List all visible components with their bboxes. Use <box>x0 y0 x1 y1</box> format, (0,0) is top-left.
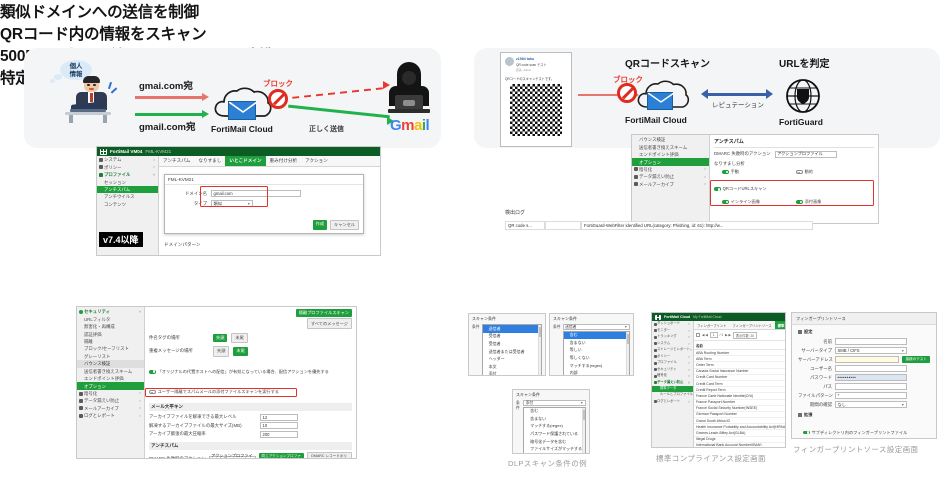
sidebar-label: データ漏えい防止 <box>84 398 119 403</box>
sidebar-item-greylist[interactable]: グレーリスト <box>77 353 144 360</box>
compliance-list[interactable]: ABA Routing Number ABA Term Order Term C… <box>694 350 786 446</box>
sidebar-item-options[interactable]: オプション <box>632 158 709 165</box>
compliance-caption: 標準コンプライアンス設定画面 <box>656 453 766 464</box>
block-1-label: ブロック <box>263 78 293 89</box>
sidebar-item-log-report[interactable]: ログとレポート> <box>77 412 144 419</box>
toggle-label: 動的 <box>805 169 813 175</box>
list-item[interactable]: International Bank Account Number(IBAN) <box>694 443 786 446</box>
url-judge-heading: URLを判定 <box>779 55 830 70</box>
lock-icon <box>634 167 638 171</box>
sidebar-label: ルールとプロファイル <box>660 393 693 397</box>
option[interactable]: 本文 <box>483 363 541 371</box>
sidebar-item-log-report[interactable]: ログとレポート> <box>652 398 693 405</box>
max-archive-size-input[interactable]: 10 <box>260 422 298 429</box>
fingerprint-panel-title: フィンガープリントソース <box>792 313 936 325</box>
option[interactable]: パスワード保護されている <box>524 430 585 438</box>
arrow-red-1 <box>135 96 204 99</box>
arrow-bidirectional-head-right <box>766 89 773 99</box>
option[interactable]: 内部 <box>564 369 629 376</box>
pager-next[interactable]: ▶ ▶ <box>725 333 731 337</box>
chevron-down-icon: ˅ <box>139 310 142 314</box>
sidebar-label: 送信者書き換えスキーム <box>84 369 132 374</box>
max-archive-size-label: 解凍するアーカイブファイルの最大サイズ(MB) <box>149 423 257 429</box>
panel-2-value: 送信者 <box>565 325 576 330</box>
compliance-tabs[interactable]: フィンガープリント フィンガープリントソース 標準コンプライアンス <box>694 321 786 330</box>
hostname: FML-KVM21 <box>145 149 171 154</box>
sidebar-item-dlp[interactable]: データ漏えい防止> <box>632 173 709 180</box>
report-icon <box>654 400 657 403</box>
name-input[interactable] <box>835 338 907 345</box>
dup-suffix-option[interactable]: 末尾 <box>233 347 247 355</box>
shield-icon <box>654 368 657 371</box>
sidebar-label: ブロック/セーフリスト <box>84 346 129 351</box>
interval-label: 期間の確認 <box>798 402 832 408</box>
option[interactable]: ヘッダー <box>483 355 541 363</box>
panel-3-select[interactable]: 添付▼ <box>523 400 586 406</box>
sidebar-label: ポリシー <box>657 355 670 359</box>
path-input[interactable] <box>835 383 907 390</box>
toggle-manual[interactable]: 手動 <box>722 169 796 175</box>
compliance-titlebar: FortiMail Cloud My FortiMail Cloud <box>652 313 785 321</box>
report-icon <box>79 414 83 418</box>
chevron-right-icon: > <box>139 391 142 395</box>
panel-3-field-label: 条件 <box>516 400 521 454</box>
arrow-bidirectional <box>706 93 768 96</box>
sidebar-item-dlp[interactable]: データ漏えい防止> <box>77 397 144 404</box>
fortiguard-icon <box>785 78 821 114</box>
qr-options-screenshot[interactable]: バウンス検証 送信者書き換えスキーム エンドポイント評価 オプション 暗号化> … <box>631 134 879 224</box>
chevron-down-icon: ▼ <box>580 401 583 405</box>
section-icon <box>798 413 802 417</box>
chevron-right-icon: > <box>688 368 691 372</box>
duplicate-message-position-label: 重複メッセージの場所 <box>149 348 209 354</box>
chevron-right-icon: > <box>153 165 156 169</box>
username-label: ユーザー名 <box>798 366 832 372</box>
advanced-section-header: 拡張 <box>804 412 812 418</box>
sidebar-item-session[interactable]: セッション <box>97 178 158 185</box>
sidebar-label: 暗号化 <box>84 391 97 396</box>
fingerprint-caption: フィンガープリントソース設定画面 <box>793 444 918 455</box>
domain-name-label: ドメイン名 <box>179 191 207 197</box>
shield-icon <box>79 310 83 314</box>
toggle-label: 手動 <box>731 169 739 175</box>
sidebar-item-quarantine[interactable]: 隔離 <box>77 338 144 345</box>
tab-weight-analysis[interactable]: 重み付け分析 <box>266 156 302 166</box>
chevron-right-icon: > <box>688 374 691 378</box>
tab-cousin-domain[interactable]: いとこドメイン <box>225 156 265 166</box>
toggle-switch[interactable] <box>714 187 721 191</box>
qr-sidebar[interactable]: バウンス検証 送信者書き換えスキーム エンドポイント評価 オプション 暗号化> … <box>632 135 710 223</box>
sidebar-item-url-filter[interactable]: URLフィルタ <box>77 315 144 322</box>
sidebar-label: 暗号化 <box>639 167 652 172</box>
sidebar-label: セッション <box>104 180 126 185</box>
as-dmarc-select[interactable]: アクションプロファイル <box>209 456 256 459</box>
panel-1-field-label: 条件 <box>472 324 480 376</box>
sidebar-label: グレーリスト <box>84 354 110 359</box>
arrow-red-1-head <box>202 93 209 101</box>
dlp-icon <box>654 381 657 384</box>
sidebar-item-dlp[interactable]: データ漏えい防止˅ <box>652 380 693 387</box>
chevron-down-icon: ▼ <box>247 202 250 206</box>
toggle-label: インライン画像 <box>731 199 760 205</box>
chevron-right-icon: > <box>139 414 142 418</box>
sidebar-item-content[interactable]: コンテンツ <box>97 201 158 208</box>
sidebar-label: バウンス検証 <box>639 137 665 142</box>
create-button[interactable]: 作成 <box>313 220 327 230</box>
log-cell-type: QR code s... <box>505 221 545 230</box>
sidebar-item-mail-archive[interactable]: メールアーカイブ> <box>77 405 144 412</box>
sidebar-label: メールアーカイブ <box>639 182 674 187</box>
sidebar-label: データ漏えい防止 <box>639 174 674 179</box>
sidebar-label: ログとレポート <box>84 413 115 418</box>
sidebar-item-srs[interactable]: 送信者書き換えスキーム <box>77 368 144 375</box>
panel-3-title: スキャン条件 <box>513 390 589 400</box>
send-ok-label: 正しく送信 <box>309 124 344 134</box>
toggle-switch[interactable] <box>803 431 810 435</box>
option[interactable]: マッチする(regex) <box>564 362 629 370</box>
sidebar-label: データ漏えい防止 <box>657 381 683 385</box>
sidebar-item-antivirus[interactable]: アンチウイルス <box>97 193 158 200</box>
chevron-right-icon: > <box>688 361 691 365</box>
server-address-input[interactable] <box>835 356 899 363</box>
sidebar-label: 隔離 <box>84 339 93 344</box>
chevron-down-icon: ▼ <box>901 403 904 407</box>
sidebar-item-policy[interactable]: ポリシー> <box>97 163 158 170</box>
server-type-label: サーバータイプ <box>798 348 832 354</box>
sidebar-label: オプション <box>84 384 106 389</box>
sidebar-label: システム <box>104 157 121 162</box>
sidebar-label: オプション <box>639 160 661 165</box>
policy-icon <box>99 165 103 169</box>
toggle-switch[interactable] <box>149 370 156 374</box>
fingerprint-source-screenshot[interactable]: フィンガープリントソース 設定 名前 サーバータイプ SMB / CIFS▼ サ… <box>791 312 937 439</box>
detection-log-title: 検出ログ <box>505 209 525 216</box>
toggle-switch[interactable] <box>722 170 729 174</box>
profile-icon <box>99 173 103 177</box>
dialog-title: FML-KVM21 <box>165 175 363 185</box>
section-icon <box>798 330 802 334</box>
sidebar-label: 標準データ <box>660 387 676 391</box>
type-select[interactable]: 類似▼ <box>211 200 253 207</box>
as-dmarc-same-profile-button[interactable]: 同じアクションプロファイル <box>259 453 305 459</box>
option[interactable]: 送信者 <box>483 325 541 333</box>
system-icon <box>99 158 103 162</box>
sidebar-item-endpoint-reputation[interactable]: エンドポイント評価 <box>77 375 144 382</box>
option[interactable]: 暗号化データを含む <box>524 438 585 446</box>
panel-2-select[interactable]: 送信者▼ <box>563 324 630 330</box>
mail-scan-section-header: メール大平キン <box>149 403 352 411</box>
arrow-top-label: gmai.com宛 <box>139 78 193 92</box>
tab-standard-compliance[interactable]: 標準コンプライアンス <box>775 321 786 329</box>
option[interactable]: 添付 <box>483 371 541 376</box>
basic-section-header: 設定 <box>804 329 812 335</box>
toggle-switch[interactable] <box>796 170 803 174</box>
antispam-section-header: アンチスパム <box>149 442 352 450</box>
security-sidebar[interactable]: セキュリティ˅ URLフィルタ 無害化・再構成 認証評価 隔離 ブロック/セーフ… <box>77 307 145 458</box>
type-value: 類似 <box>214 201 222 207</box>
option[interactable]: 含まない <box>524 415 585 423</box>
sidebar-label: エンドポイント評価 <box>639 152 679 157</box>
connection-test-button[interactable]: 接続のテスト <box>902 356 930 363</box>
dashboard-icon <box>654 323 657 326</box>
archive-expansion-screenshot[interactable]: セキュリティ˅ URLフィルタ 無害化・再構成 認証評価 隔離 ブロック/セーフ… <box>76 306 357 459</box>
toggle-subdirectory-fingerprint[interactable]: サブディレクトリ内のフィンガープリントファイル <box>803 430 907 436</box>
compliance-screenshot[interactable]: FortiMail Cloud My FortiMail Cloud ダッシュボ… <box>651 312 786 448</box>
option[interactable]: 等しい <box>564 347 629 355</box>
sidebar-label: エンドポイント評価 <box>84 376 124 381</box>
chevron-down-icon: ▼ <box>901 349 904 353</box>
lock-icon <box>79 392 83 396</box>
archive-icon <box>79 406 83 410</box>
chevron-down-icon: ▼ <box>624 325 627 329</box>
sidebar-item-srs[interactable]: 送信者書き換えスキーム <box>632 143 709 150</box>
person-illustration <box>63 76 123 124</box>
sidebar-item-bounce-verify[interactable]: バウンス検証 <box>77 360 144 367</box>
arrow-green-1-head <box>202 110 209 118</box>
mail-subject: QR code scan テスト <box>516 62 547 67</box>
profile-icon <box>654 362 657 365</box>
toggle-inline-image[interactable]: インライン画像 <box>722 199 796 205</box>
sidebar-item-security[interactable]: セキュリティ˅ <box>77 308 144 315</box>
log-cell-message: FortiGuard-WebFilter identified URL(cate… <box>581 221 813 230</box>
sidebar-item-profile[interactable]: プロファイル˅ <box>97 171 158 178</box>
chevron-right-icon: > <box>688 335 691 339</box>
page-number[interactable]: 1 <box>710 332 718 338</box>
server-address-label: サーバーアドレス <box>798 357 832 363</box>
system-icon <box>654 342 657 345</box>
scrollbar[interactable] <box>582 408 585 455</box>
tab-bar[interactable]: アンチスパム なりすまし いとこドメイン 重み付け分析 アクション <box>159 156 380 167</box>
toggle-label: ユーザー隔離でスパムメールの添付ファイルスキャンを実行する <box>158 389 279 395</box>
interval-select[interactable]: なし▼ <box>835 401 907 408</box>
envelope-1-icon <box>228 101 256 120</box>
sidebar-label: モニター <box>657 329 670 333</box>
sidebar-label: セキュリティ <box>657 368 677 372</box>
subject-tag-prefix-option[interactable]: 先頭 <box>213 334 227 342</box>
version-badge: v7.4以降 <box>99 232 143 247</box>
chevron-down-icon: ˅ <box>688 381 691 385</box>
arrow-green-1 <box>135 113 204 116</box>
arrow-bottom-label: gmail.com宛 <box>139 119 196 133</box>
toggle-qr-url-scan[interactable]: QRコードURLスキャン <box>714 186 767 192</box>
password-input[interactable]: •••••••••• <box>835 374 907 381</box>
dlp-scan-condition-panel-1[interactable]: スキャン条件 条件 送信者 受信者 受信者 送信者または受信者 ヘッダー 本文 … <box>468 313 546 376</box>
mail-meta: 宛先: admin <box>516 68 547 72</box>
chevron-right-icon: > <box>690 348 693 352</box>
max-compression-ratio-input[interactable]: 200 <box>260 431 298 438</box>
password-label: パスワード <box>798 375 832 381</box>
chevron-right-icon: > <box>688 329 691 333</box>
fortimail-logo-icon <box>655 315 661 320</box>
toggle-attached-image[interactable]: 添付画像 <box>796 199 821 205</box>
domain-name-input[interactable]: gmail.com <box>211 190 301 197</box>
block-2-icon <box>617 83 637 103</box>
arrow-bidirectional-head-left <box>701 89 708 99</box>
scrollbar[interactable] <box>626 332 629 377</box>
sidebar-label: プロファイル <box>657 361 677 365</box>
column-header-name: 名前 <box>694 341 786 350</box>
sidebar-label: ポリシー <box>104 165 122 170</box>
grid-icon[interactable] <box>696 333 700 337</box>
monitor-icon <box>654 329 657 332</box>
chevron-down-icon: ˅ <box>153 173 156 177</box>
subject-tag-position-label: 件名タグの場所 <box>149 335 209 341</box>
max-archive-level-input[interactable]: 12 <box>260 414 298 421</box>
detection-log-row: QR code s... FortiGuard-WebFilter identi… <box>505 221 813 230</box>
storage-icon <box>654 349 657 352</box>
sidebar-item-antispam[interactable]: アンチスパム <box>97 186 158 193</box>
tab-spoof[interactable]: なりすまし <box>194 156 225 166</box>
chevron-right-icon: > <box>704 167 707 171</box>
option[interactable]: 送信者または受信者 <box>483 348 541 356</box>
panel-2-title: スキャン条件 <box>550 314 633 324</box>
cousin-domain-dialog[interactable]: FML-KVM21 ドメイン名 gmail.com タイプ 類似▼ 作成 <box>164 174 364 234</box>
username-input[interactable] <box>835 365 907 372</box>
pager-prev[interactable]: ◀ ◀ <box>702 333 708 337</box>
toggle-user-quarantine-attachment-scan[interactable]: ユーザー隔離でスパムメールの添付ファイルスキャンを実行する <box>149 389 279 395</box>
scrollbar[interactable] <box>538 325 541 376</box>
path-label: パス <box>798 384 832 390</box>
qr-scan-heading: QRコードスキャン <box>625 55 710 70</box>
tracking-icon <box>654 336 657 339</box>
spoof-analysis-label: なりすまし分析 <box>714 161 874 167</box>
sidebar-label: トラッキング <box>657 335 677 339</box>
as-dmarc-record-policy-button[interactable]: DMARC レコードポリシー <box>307 452 352 459</box>
toggle-dynamic[interactable]: 動的 <box>796 169 813 175</box>
dmarc-action-label: DMARC 失敗時のアクション <box>714 151 771 157</box>
panel-3-value: 添付 <box>526 401 534 406</box>
chevron-right-icon: > <box>153 158 156 162</box>
fortimail-logo-icon <box>100 149 107 155</box>
chevron-right-icon: > <box>139 399 142 403</box>
file-pattern-label: ファイルパターン <box>798 393 832 399</box>
dlp-icon <box>634 175 638 179</box>
chevron-right-icon: > <box>688 355 691 359</box>
option[interactable]: 存在する <box>524 453 585 454</box>
sidebar-item-bounce-verify[interactable]: バウンス検証 <box>632 136 709 143</box>
hacker-illustration <box>386 62 432 118</box>
sidebar-item-auth-reputation[interactable]: 認証評価 <box>77 330 144 337</box>
name-label: 名前 <box>798 339 832 345</box>
chevron-right-icon: > <box>704 175 707 179</box>
cancel-button[interactable]: キャンセル <box>330 220 359 230</box>
quarantine-profile-scan-button[interactable]: 隔離プロファイルスキャン <box>296 309 352 317</box>
chevron-right-icon: > <box>688 322 691 326</box>
fortimail-cloud-1-label: FortiMail Cloud <box>211 124 273 134</box>
sidebar-label: アンチウイルス <box>104 194 135 199</box>
server-type-select[interactable]: SMB / CIFS▼ <box>835 347 907 354</box>
tab-action[interactable]: アクション <box>301 156 332 166</box>
sidebar-item-cdr[interactable]: 無害化・再構成 <box>77 323 144 330</box>
fortiguard-label: FortiGuard <box>779 117 823 127</box>
dlp-caption: DLPスキャン条件の例 <box>508 458 587 469</box>
log-cell-blank <box>545 221 581 230</box>
sidebar-item-options[interactable]: オプション <box>77 382 144 389</box>
fortimail-titlebar: FortiMail VM04 FML-KVM21 <box>97 147 380 156</box>
sender-name: z1984 taku <box>516 57 547 61</box>
all-messages-button[interactable]: すべてのメッセージ <box>307 318 352 328</box>
sidebar-label: セキュリティ <box>84 309 110 314</box>
chevron-right-icon: > <box>704 182 707 186</box>
page-total: / 1 <box>720 333 724 337</box>
subtitle: My FortiMail Cloud <box>693 315 721 319</box>
gmail-logo: Gmail <box>390 117 429 134</box>
sidebar-label: コンテンツ <box>104 202 126 207</box>
domain-pattern-section: ドメインパターン <box>164 242 201 248</box>
sidebar-label: URLフィルタ <box>84 317 110 322</box>
file-pattern-input[interactable]: * <box>835 392 907 399</box>
option[interactable]: 受信者 <box>483 333 541 341</box>
as-dmarc-label: DMARC 失敗時のアクション <box>149 456 206 459</box>
dup-prefix-option[interactable]: 先頭 <box>213 346 229 356</box>
dlp-icon <box>79 399 83 403</box>
panel-2-field-label: 条件 <box>553 324 561 376</box>
sidebar-item-mail-archive[interactable]: メールアーカイブ> <box>632 181 709 188</box>
sidebar-item-encryption[interactable]: 暗号化> <box>632 166 709 173</box>
toggle-switch[interactable] <box>722 200 729 204</box>
option[interactable]: 含む <box>524 408 585 416</box>
chevron-right-icon: > <box>139 406 142 410</box>
reputation-label: レピュテーション <box>712 99 764 109</box>
sidebar-label: ストレージとレポート <box>657 348 690 352</box>
section-2-title: QRコード内の情報をスキャン <box>0 22 950 44</box>
per-page-select[interactable]: 表示件数: 20 <box>733 332 757 339</box>
sidebar-item-block-safe-list[interactable]: ブロック/セーフリスト <box>77 345 144 352</box>
tab-fingerprint[interactable]: フィンガープリント <box>694 321 729 329</box>
dlp-scan-condition-panel-2[interactable]: スキャン条件 条件 送信者▼ 含む 含まない 等しい 等しくない マッチする(r… <box>549 313 634 376</box>
option[interactable]: ファイルサイズがマッチする <box>524 445 585 453</box>
qr-code-image <box>510 84 562 136</box>
option[interactable]: 含まない <box>564 339 629 347</box>
slide-page: 類似ドメインへの送信を制御 個人情報 gmai.com宛 gmail.com宛 <box>0 0 950 481</box>
compliance-sidebar[interactable]: ダッシュボード> モニター> トラッキング> システム> ストレージとレポート>… <box>652 321 694 448</box>
tab-fingerprint-source[interactable]: フィンガープリントソース <box>729 321 774 329</box>
sidebar-label: メールアーカイブ <box>84 406 119 411</box>
option[interactable]: 等しくない <box>564 354 629 362</box>
mail-body: QRコードのスキャンテストです。 <box>501 74 571 83</box>
chevron-right-icon: > <box>688 342 691 346</box>
toggle-label: 「オリジナルの代置ホストへの配信」が有効になっている場合、配信アクションを優先す… <box>158 369 329 375</box>
antispam-panel-title: アンチスパム <box>714 138 874 148</box>
sidebar-label: アンチスパム <box>104 187 130 192</box>
toggle-original-host-delivery[interactable]: 「オリジナルの代置ホストへの配信」が有効になっている場合、配信アクションを優先す… <box>149 369 329 375</box>
sidebar-item-endpoint-reputation[interactable]: エンドポイント評価 <box>632 151 709 158</box>
toggle-switch[interactable] <box>149 390 156 394</box>
type-label: タイプ <box>179 201 207 207</box>
option[interactable]: 含む <box>564 332 629 340</box>
envelope-2-icon <box>647 92 673 110</box>
max-archive-level-label: アーカイブファイルを解凍できる最大レベル <box>149 414 257 420</box>
sidebar-item-encryption[interactable]: 暗号化> <box>77 390 144 397</box>
subject-tag-suffix-option[interactable]: 末尾 <box>231 333 247 343</box>
option[interactable]: マッチする(regex) <box>524 423 585 431</box>
dlp-scan-condition-panel-3[interactable]: スキャン条件 条件 添付▼ 含む 含まない マッチする(regex) パスワード… <box>512 389 590 454</box>
sidebar-item-system[interactable]: システム> <box>97 156 158 163</box>
toggle-label: サブディレクトリ内のフィンガープリントファイル <box>812 430 908 436</box>
avatar <box>505 57 514 66</box>
tab-antispam[interactable]: アンチスパム <box>159 156 194 166</box>
product-name: FortiMail VM04 <box>110 149 142 154</box>
chevron-right-icon: > <box>688 400 691 404</box>
section-1-title: 類似ドメインへの送信を制御 <box>0 0 950 22</box>
dmarc-action-select[interactable]: アクションプロファイル <box>775 151 837 158</box>
panel-1-title: スキャン条件 <box>469 314 545 324</box>
sidebar-label: 暗号化 <box>657 374 667 378</box>
toggle-switch[interactable] <box>796 200 803 204</box>
product-name: FortiMail Cloud <box>664 315 690 319</box>
option[interactable]: 受信者 <box>483 340 541 348</box>
email-qr-card: z1984 taku QR code scan テスト 宛先: admin QR… <box>500 52 572 147</box>
